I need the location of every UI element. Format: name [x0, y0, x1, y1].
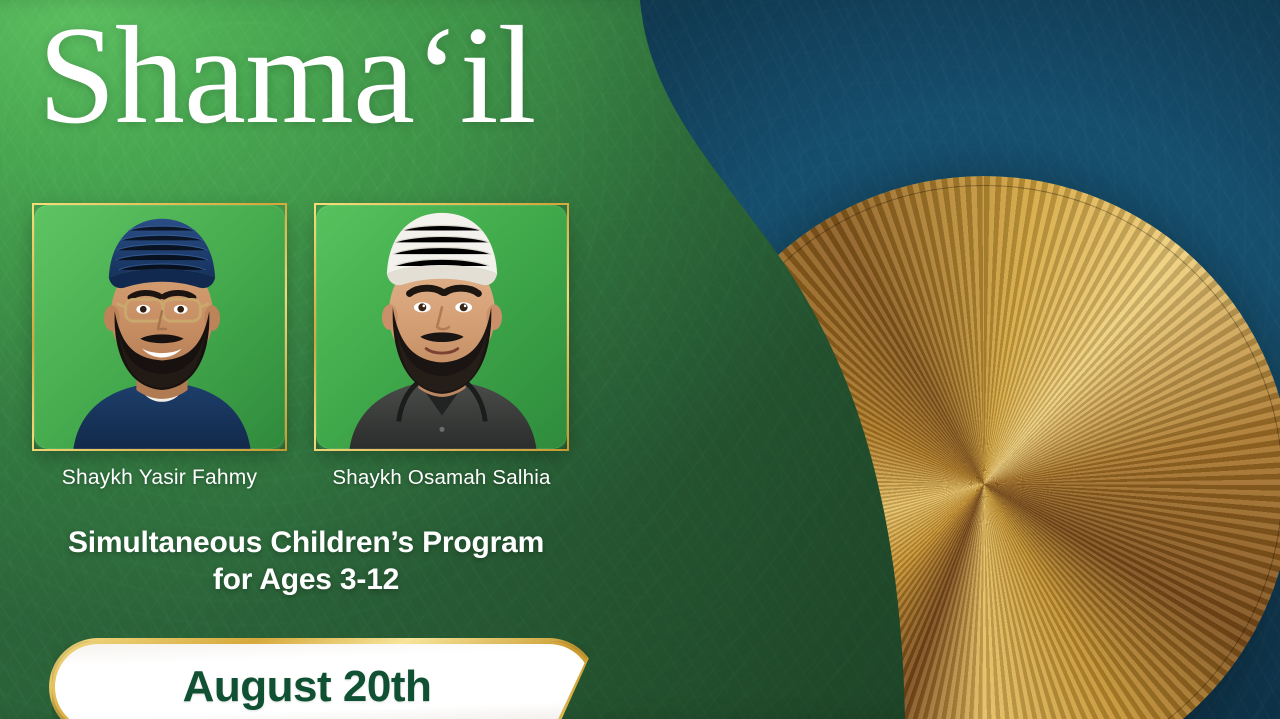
speaker-photo-2: [314, 203, 569, 451]
speakers-row: Shaykh Yasir Fahmy: [32, 203, 569, 490]
speaker-photo-1: [32, 203, 287, 451]
date-banner-label: August 20th: [52, 641, 562, 719]
page-title: Shamaʻil: [38, 2, 535, 149]
speaker-name-1: Shaykh Yasir Fahmy: [32, 466, 287, 490]
speaker-card-2: Shaykh Osamah Salhia: [314, 203, 569, 490]
poster-root: Shamaʻil: [0, 0, 1280, 719]
kids-program-line2: for Ages 3-12: [0, 562, 612, 599]
kids-program-line1: Simultaneous Children’s Program: [68, 526, 544, 559]
speaker-name-2: Shaykh Osamah Salhia: [314, 466, 569, 490]
kids-program-text: Simultaneous Children’s Program for Ages…: [0, 525, 612, 598]
speaker-card-1: Shaykh Yasir Fahmy: [32, 203, 287, 490]
